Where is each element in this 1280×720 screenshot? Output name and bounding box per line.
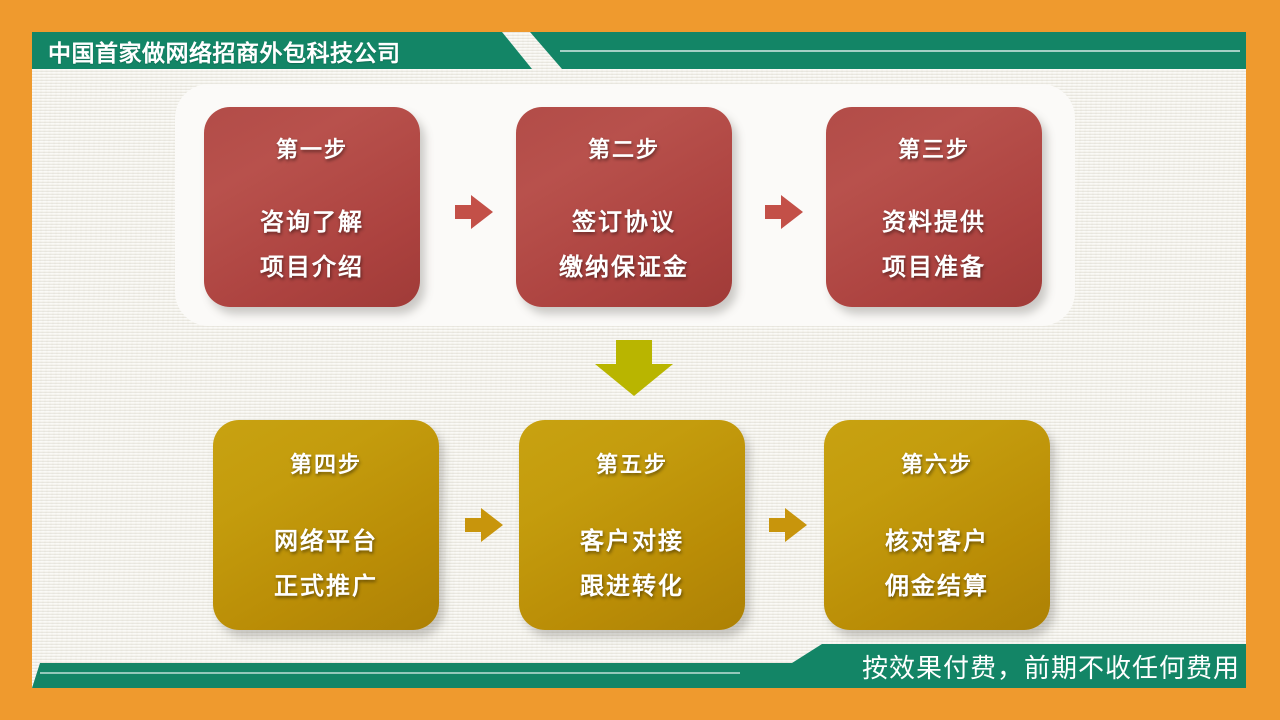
- step-5-line-2: 跟进转化: [580, 566, 684, 601]
- step-4-line-2: 正式推广: [274, 566, 378, 601]
- step-2-lines: 签订协议 缴纳保证金: [559, 202, 689, 282]
- step-4-title: 第四步: [290, 447, 362, 479]
- step-6-line-1: 核对客户: [885, 521, 989, 556]
- step-1-title: 第一步: [276, 132, 348, 164]
- arrow-down-icon-row1-to-row2: [595, 340, 673, 396]
- step-5-title: 第五步: [596, 447, 668, 479]
- step-box-3[interactable]: 第三步 资料提供 项目准备: [826, 107, 1042, 307]
- step-box-5[interactable]: 第五步 客户对接 跟进转化: [519, 420, 745, 630]
- step-5-lines: 客户对接 跟进转化: [580, 521, 684, 601]
- step-4-lines: 网络平台 正式推广: [274, 521, 378, 601]
- arrow-head: [471, 195, 493, 229]
- step-1-line-1: 咨询了解: [260, 202, 364, 237]
- step-4-line-1: 网络平台: [274, 521, 378, 556]
- arrow-right-icon-step1-to-step2: [455, 195, 493, 229]
- step-5-line-1: 客户对接: [580, 521, 684, 556]
- step-1-line-2: 项目介绍: [260, 247, 364, 282]
- step-3-lines: 资料提供 项目准备: [882, 202, 986, 282]
- arrow-head: [595, 364, 673, 396]
- step-2-title: 第二步: [588, 132, 660, 164]
- arrow-right-icon-step5-to-step6: [769, 508, 807, 542]
- step-3-line-2: 项目准备: [882, 247, 986, 282]
- slide-root: 中国首家做网络招商外包科技公司 第一步 咨询了解 项目介绍 第二步 签订协议 缴…: [0, 0, 1280, 720]
- step-3-title: 第三步: [898, 132, 970, 164]
- header-hairline-divider: [560, 50, 1240, 52]
- step-6-line-2: 佣金结算: [885, 566, 989, 601]
- step-box-1[interactable]: 第一步 咨询了解 项目介绍: [204, 107, 420, 307]
- arrow-head: [481, 508, 503, 542]
- page-title: 中国首家做网络招商外包科技公司: [48, 32, 401, 69]
- step-3-line-1: 资料提供: [882, 202, 986, 237]
- step-box-4[interactable]: 第四步 网络平台 正式推广: [213, 420, 439, 630]
- step-6-title: 第六步: [901, 447, 973, 479]
- step-2-line-1: 签订协议: [572, 202, 676, 237]
- step-2-line-2: 缴纳保证金: [559, 247, 689, 282]
- arrow-head: [785, 508, 807, 542]
- footer-hairline-divider: [40, 672, 740, 674]
- step-6-lines: 核对客户 佣金结算: [885, 521, 989, 601]
- step-box-6[interactable]: 第六步 核对客户 佣金结算: [824, 420, 1050, 630]
- arrow-right-icon-step4-to-step5: [465, 508, 503, 542]
- step-box-2[interactable]: 第二步 签订协议 缴纳保证金: [516, 107, 732, 307]
- step-1-lines: 咨询了解 项目介绍: [260, 202, 364, 282]
- arrow-right-icon-step2-to-step3: [765, 195, 803, 229]
- footer-tagline: 按效果付费，前期不收任何费用: [862, 644, 1240, 688]
- arrow-shaft: [616, 340, 652, 366]
- arrow-head: [781, 195, 803, 229]
